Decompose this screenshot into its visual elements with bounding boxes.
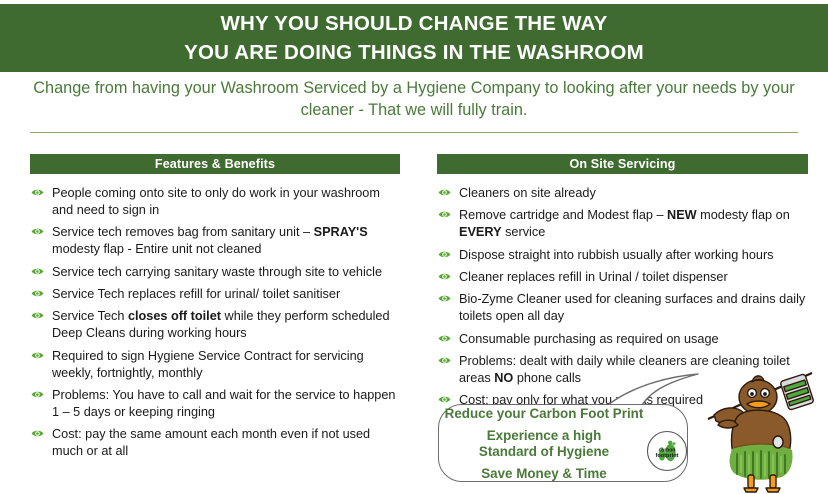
list-item-text: Consumable purchasing as required on usa… [459,332,719,346]
bullet-eye-icon [31,188,44,197]
bullet-eye-icon [438,356,451,365]
list-item: Service tech carrying sanitary waste thr… [30,264,400,281]
bullet-eye-icon [438,250,451,259]
bullet-eye-icon [31,429,44,438]
kiwi-bird-illustration [700,363,828,494]
list-item-text: Service Tech replaces refill for urinal/… [52,287,340,301]
bullet-eye-icon [438,395,451,404]
list-item-text: Required to sign Hygiene Service Contrac… [52,349,364,380]
list-item-text: Service tech carrying sanitary waste thr… [52,265,382,279]
features-benefits-list: People coming onto site to only do work … [30,185,400,460]
bullet-eye-icon [31,351,44,360]
carbon-footprint-badge-icon: carbon footprint [646,430,688,472]
list-item-text: Cost: pay the same amount each month eve… [52,427,370,458]
list-item-text: Dispose straight into rubbish usually af… [459,248,774,262]
page-header: WHY YOU SHOULD CHANGE THE WAY YOU ARE DO… [0,4,828,72]
section-heading-features-benefits: Features & Benefits [30,154,400,174]
list-item: Remove cartridge and Modest flap – NEW m… [437,207,808,241]
bullet-eye-icon [31,227,44,236]
list-item: Dispose straight into rubbish usually af… [437,247,808,264]
bullet-eye-icon [31,267,44,276]
bullet-eye-icon [438,210,451,219]
bullet-eye-icon [31,311,44,320]
emphasis-text: SPRAY'S [314,225,368,239]
callout-line-1: Reduce your Carbon Foot Print [444,406,644,422]
list-item: Cost: pay the same amount each month eve… [30,426,400,460]
bullet-eye-icon [438,188,451,197]
bullet-eye-icon [31,289,44,298]
bullet-eye-icon [438,294,451,303]
header-title-line-2: YOU ARE DOING THINGS IN THE WASHROOM [184,38,644,67]
bullet-eye-icon [438,334,451,343]
list-item-text: Cleaner replaces refill in Urinal / toil… [459,270,728,284]
list-item: People coming onto site to only do work … [30,185,400,219]
list-item: Bio-Zyme Cleaner used for cleaning surfa… [437,291,808,325]
list-item: Cleaner replaces refill in Urinal / toil… [437,269,808,286]
callout-line-3: Standard of Hygiene [444,444,644,460]
list-item-text: Problems: You have to call and wait for … [52,388,395,419]
list-item: Service Tech replaces refill for urinal/… [30,286,400,303]
list-item: Cleaners on site already [437,185,808,202]
section-heading-on-site-servicing: On Site Servicing [437,154,808,174]
speech-bubble-text: Reduce your Carbon Foot Print Experience… [444,406,644,482]
header-title-line-1: WHY YOU SHOULD CHANGE THE WAY [221,9,608,38]
poster-page: WHY YOU SHOULD CHANGE THE WAY YOU ARE DO… [0,0,828,494]
list-item-text: Remove cartridge and Modest flap – NEW m… [459,208,790,239]
list-item-text: Cleaners on site already [459,186,596,200]
emphasis-text: EVERY [459,225,502,239]
list-item-text: Service Tech closes off toilet while the… [52,309,390,340]
emphasis-text: NEW [667,208,697,222]
list-item-text: Bio-Zyme Cleaner used for cleaning surfa… [459,292,805,323]
badge-label-footprint: footprint [656,453,679,459]
header-divider [30,132,798,133]
callout-line-2: Experience a high [444,428,644,444]
subtitle-text: Change from having your Washroom Service… [26,78,802,121]
emphasis-text: NO [494,371,513,385]
list-item: Service tech removes bag from sanitary u… [30,224,400,258]
callout-line-4: Save Money & Time [444,466,644,482]
list-item-text: People coming onto site to only do work … [52,186,380,217]
column-features-benefits: Features & Benefits People coming onto s… [30,154,400,465]
list-item: Required to sign Hygiene Service Contrac… [30,348,400,382]
list-item: Consumable purchasing as required on usa… [437,331,808,348]
bullet-eye-icon [438,272,451,281]
list-item-text: Service tech removes bag from sanitary u… [52,225,368,256]
list-item: Problems: You have to call and wait for … [30,387,400,421]
list-item: Service Tech closes off toilet while the… [30,308,400,342]
bullet-eye-icon [31,390,44,399]
emphasis-text: closes off toilet [128,309,221,323]
